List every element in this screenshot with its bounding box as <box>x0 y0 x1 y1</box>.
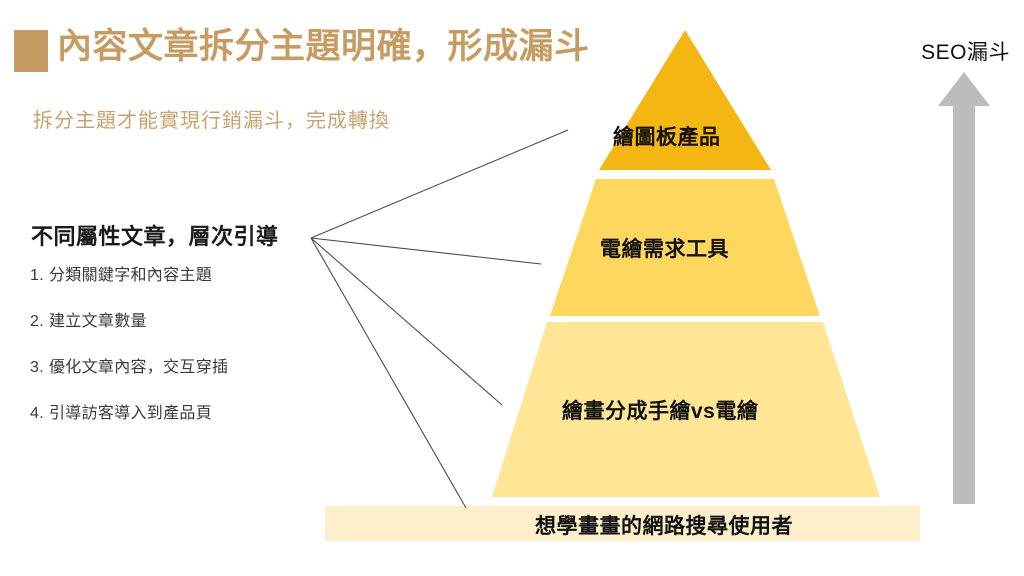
funnel-label-product: 繪圖板產品 <box>613 121 721 151</box>
funnel-label-audience: 想學畫畫的網路搜尋使用者 <box>535 510 793 540</box>
slide-canvas: 內容文章拆分主題明確，形成漏斗 拆分主題才能實現行銷漏斗，完成轉換 不同屬性文章… <box>0 0 1024 576</box>
funnel-label-tool: 電繪需求工具 <box>600 233 729 263</box>
funnel-pyramid <box>0 0 1024 576</box>
funnel-label-topic: 繪畫分成手繪vs電繪 <box>562 395 758 425</box>
